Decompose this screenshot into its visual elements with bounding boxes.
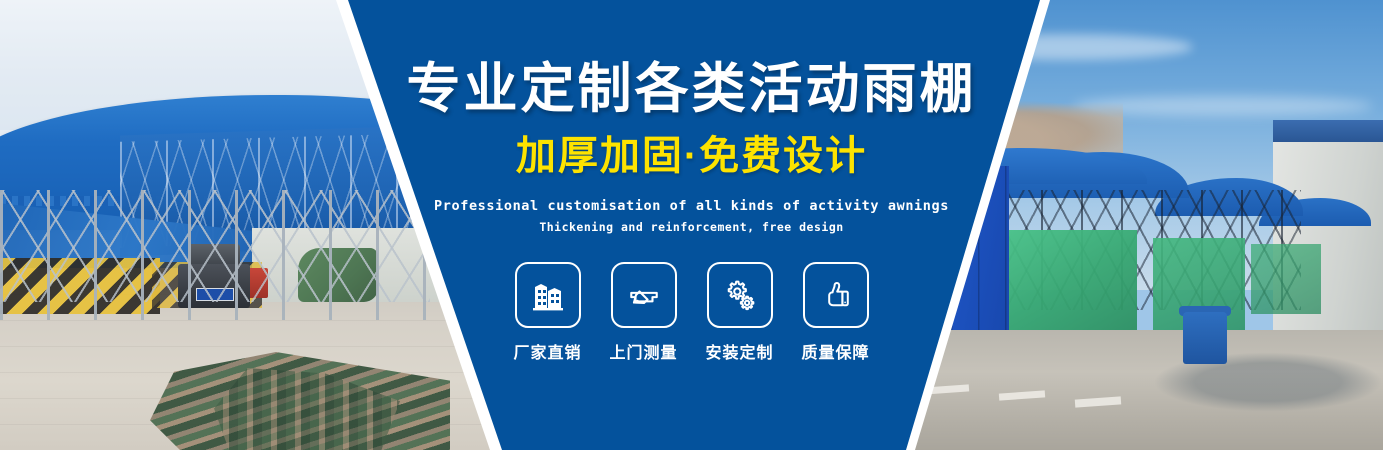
right-photo-green-tarp-3	[1251, 244, 1321, 314]
feature-item-factory-direct[interactable]: 厂家直销	[508, 262, 588, 363]
right-photo-trash-bin	[1183, 312, 1227, 364]
feature-icon-box	[803, 262, 869, 328]
right-photo-green-tarp-1	[1007, 230, 1137, 336]
feature-item-on-site-measuring[interactable]: 上门测量	[604, 262, 684, 363]
feature-list: 厂家直销 上门测量	[508, 262, 876, 363]
feature-item-quality-guarantee[interactable]: 质量保障	[796, 262, 876, 363]
feature-label: 上门测量	[609, 339, 677, 363]
feature-item-installation-customization[interactable]: 安装定制	[700, 262, 780, 363]
feature-icon-box	[707, 262, 773, 328]
feature-label: 安装定制	[705, 339, 773, 363]
right-photo-building-roof	[1273, 120, 1383, 142]
gears-icon	[723, 278, 757, 312]
ruler-pencil-icon	[627, 278, 661, 312]
thumbs-up-icon	[819, 278, 853, 312]
feature-icon-box	[515, 262, 581, 328]
promo-banner: 专业定制各类活动雨棚 加厚加固·免费设计 Professional custom…	[0, 0, 1383, 450]
feature-label: 质量保障	[801, 339, 869, 363]
building-icon	[531, 278, 565, 312]
feature-icon-box	[611, 262, 677, 328]
left-photo-support-legs	[0, 190, 430, 320]
feature-label: 厂家直销	[513, 339, 581, 363]
